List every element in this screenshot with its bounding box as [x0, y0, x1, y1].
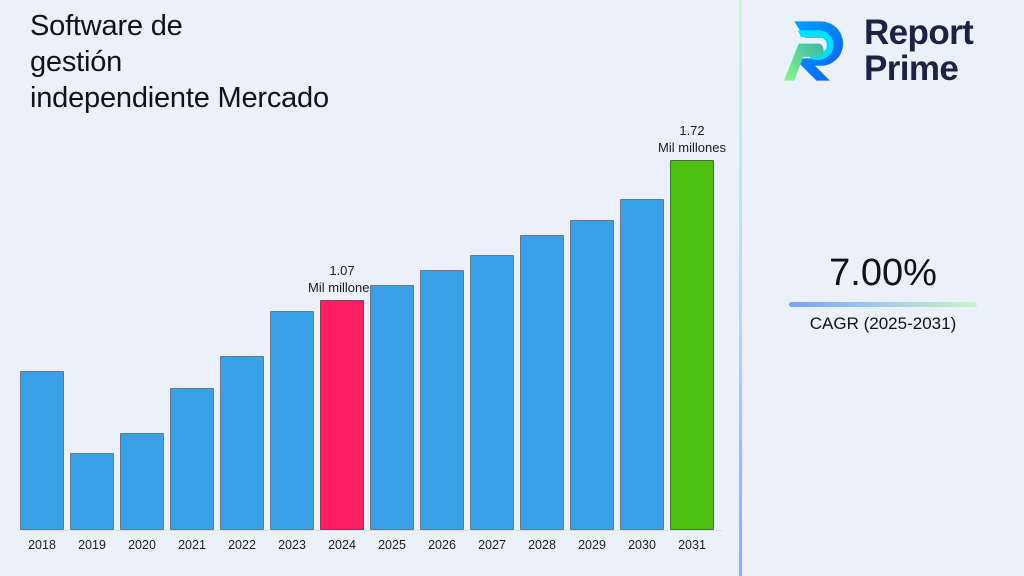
bar-2028[interactable] — [520, 130, 564, 530]
bar-2021[interactable] — [170, 130, 214, 530]
bar-2023[interactable] — [270, 130, 314, 530]
bar-2019[interactable] — [70, 130, 114, 530]
bar-2029[interactable] — [570, 130, 614, 530]
bar-rect-2020[interactable] — [120, 433, 164, 530]
bar-rect-2030[interactable] — [620, 199, 664, 530]
x-axis-label-2031: 2031 — [670, 538, 714, 552]
bar-2022[interactable] — [220, 130, 264, 530]
report-prime-logo-icon — [778, 14, 852, 88]
x-axis-label-2024: 2024 — [320, 538, 364, 552]
bar-2020[interactable] — [120, 130, 164, 530]
x-axis-label-2019: 2019 — [70, 538, 114, 552]
x-axis-label-2021: 2021 — [170, 538, 214, 552]
x-axis-label-2029: 2029 — [570, 538, 614, 552]
bar-rect-2027[interactable] — [470, 255, 514, 530]
infographic-root: Software de gestión independiente Mercad… — [0, 0, 1024, 576]
x-axis-label-2018: 2018 — [20, 538, 64, 552]
bar-rect-2024[interactable] — [320, 300, 364, 530]
x-axis-labels: 2018201920202021202220232024202520262027… — [20, 538, 720, 564]
x-axis-label-2028: 2028 — [520, 538, 564, 552]
bar-rect-2022[interactable] — [220, 356, 264, 530]
bar-2018[interactable] — [20, 130, 64, 530]
bar-rect-2031[interactable] — [670, 160, 714, 530]
x-axis-label-2023: 2023 — [270, 538, 314, 552]
right-panel: Report Prime 7.00% CAGR (2025-2031) — [742, 0, 1024, 576]
bar-rect-2025[interactable] — [370, 285, 414, 530]
x-axis-label-2030: 2030 — [620, 538, 664, 552]
bar-rect-2019[interactable] — [70, 453, 114, 530]
bar-rect-2021[interactable] — [170, 388, 214, 530]
x-axis-label-2025: 2025 — [370, 538, 414, 552]
x-axis-label-2020: 2020 — [120, 538, 164, 552]
bar-2025[interactable] — [370, 130, 414, 530]
bar-2024[interactable]: 1.07 Mil millones — [320, 130, 364, 530]
bar-rect-2023[interactable] — [270, 311, 314, 530]
bar-rect-2028[interactable] — [520, 235, 564, 530]
x-axis-label-2022: 2022 — [220, 538, 264, 552]
bar-chart: 1.07 Mil millones1.72 Mil millones 20182… — [0, 0, 739, 576]
bar-2027[interactable] — [470, 130, 514, 530]
bar-rect-2018[interactable] — [20, 371, 64, 530]
bar-series: 1.07 Mil millones1.72 Mil millones — [20, 130, 720, 530]
cagr-block: 7.00% CAGR (2025-2031) — [742, 250, 1024, 335]
bar-rect-2026[interactable] — [420, 270, 464, 530]
bar-2030[interactable] — [620, 130, 664, 530]
cagr-divider-rule — [789, 302, 977, 307]
brand-logo: Report Prime — [778, 14, 973, 88]
chart-baseline-axis — [18, 530, 722, 531]
cagr-value: 7.00% — [742, 250, 1024, 296]
x-axis-label-2026: 2026 — [420, 538, 464, 552]
x-axis-label-2027: 2027 — [470, 538, 514, 552]
bar-2026[interactable] — [420, 130, 464, 530]
bar-rect-2029[interactable] — [570, 220, 614, 530]
bar-2031[interactable]: 1.72 Mil millones — [670, 130, 714, 530]
brand-name: Report Prime — [864, 15, 973, 87]
cagr-label: CAGR (2025-2031) — [742, 313, 1024, 335]
